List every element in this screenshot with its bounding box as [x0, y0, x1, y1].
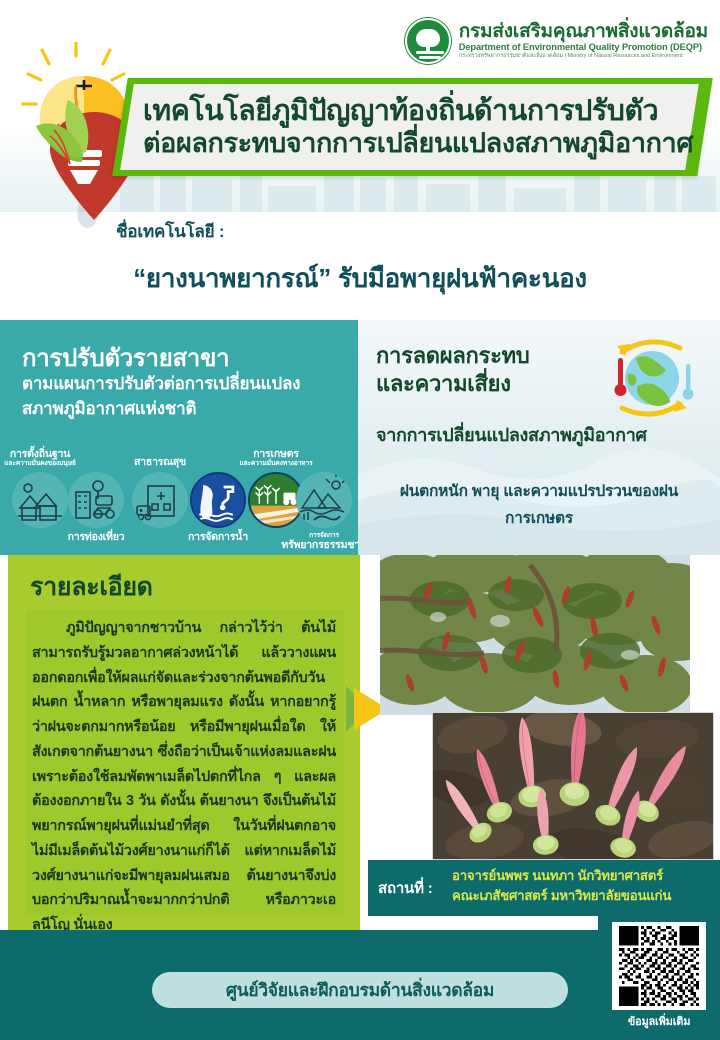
- technology-label: ชื่อเทคโนโลยี :: [116, 218, 224, 245]
- thermometer-cold-icon: [683, 364, 694, 400]
- sector-label-water-management: การจัดการน้ำ: [158, 532, 278, 543]
- location-value: อาจารย์นพพร นนทภา นักวิทยาศาสตร์ คณะเภสั…: [452, 866, 714, 907]
- sector-subtitle-line-2: สภาพภูมิอากาศแห่งชาติ: [22, 397, 352, 422]
- sector-icons-row: การตั้งถิ่นฐาน และความมั่นคงของมนุษย์: [0, 450, 358, 550]
- technology-name: “ยางนาพยากรณ์” รับมือพายุฝนฟ้าคะนอง: [0, 258, 720, 299]
- impact-title-line-1: การลดผลกระทบ: [376, 342, 626, 370]
- location-line-2: คณะเภสัชศาสตร์ มหาวิทยาลัยขอนแก่น: [452, 886, 714, 906]
- hospital-icon: [132, 472, 188, 528]
- impact-panel-title: การลดผลกระทบ และความเสี่ยง: [376, 342, 626, 397]
- impact-reduction-panel: การลดผลกระทบ และความเสี่ยง จากการเปลี่ยน…: [358, 320, 720, 555]
- mountain-icon: [296, 472, 352, 528]
- sector-label-settlement: การตั้งถิ่นฐาน และความมั่นคงของมนุษย์: [0, 449, 100, 468]
- details-body-text: ภูมิปัญญาจากชาวบ้าน กล่าวไว้ว่า ต้นไม้สา…: [26, 610, 344, 915]
- impact-panel-subtitle: จากการเปลี่ยนแปลงสภาพภูมิอากาศ: [376, 420, 706, 449]
- sector-item-tourism[interactable]: การท่องเที่ยว: [68, 472, 124, 528]
- qr-code-image: [616, 926, 702, 1006]
- water-tap-icon: [190, 472, 246, 528]
- title-line-2: ต่อผลกระทบจากการเปลี่ยนแปลงสภาพภูมิอากาศ: [143, 128, 703, 159]
- sector-label-agriculture: การเกษตร และความมั่นคงทางอาหาร: [216, 449, 336, 468]
- qr-caption: ข้อมูลเพิ่มเติม: [598, 1012, 720, 1030]
- sector-adaptation-panel: การปรับตัวรายสาขา ตามแผนการปรับตัวต่อการ…: [0, 320, 358, 555]
- poster-root: กรมส่งเสริมคุณภาพสิ่งแวดล้อม Department …: [0, 0, 720, 1040]
- deqp-emblem-icon: [405, 18, 451, 64]
- org-ministry: กระทรวงทรัพยากรธรรมชาติและสิ่งแวดล้อม I …: [459, 54, 708, 60]
- impact-title-line-2: และความเสี่ยง: [376, 370, 626, 398]
- risk-line-2: การเกษตร: [358, 505, 720, 532]
- yangna-seed-photo: [432, 712, 714, 860]
- page-title: เทคโนโลยีภูมิปัญญาท้องถิ่นด้านการปรับตัว…: [143, 84, 703, 170]
- earth-climate-icon: [592, 334, 702, 422]
- sector-item-water-management[interactable]: การจัดการน้ำ: [190, 472, 246, 528]
- sector-label-public-health: สาธารณสุข: [100, 457, 220, 468]
- impact-risk-text: ฝนตกหนัก พายุ และความแปรปรวนของฝน การเกษ…: [358, 478, 720, 532]
- footer-organization: ศูนย์วิจัยและฝึกอบรมด้านสิ่งแวดล้อม: [152, 972, 568, 1008]
- title-line-1: เทคโนโลยีภูมิปัญญาท้องถิ่นด้านการปรับตัว: [143, 95, 703, 128]
- sector-subtitle-line-1: ตามแผนการปรับตัวต่อการเปลี่ยนแปลง: [22, 372, 352, 397]
- deqp-logo-text: กรมส่งเสริมคุณภาพสิ่งแวดล้อม Department …: [459, 22, 708, 61]
- thermometer-hot-icon: [615, 358, 627, 396]
- settlement-icon: [12, 472, 68, 528]
- sector-item-public-health[interactable]: สาธารณสุข: [132, 472, 188, 528]
- sector-panel-subtitle: ตามแผนการปรับตัวต่อการเปลี่ยนแปลง สภาพภู…: [22, 372, 352, 421]
- location-line-1: อาจารย์นพพร นนทภา นักวิทยาศาสตร์: [452, 866, 714, 886]
- sector-label-tourism: การท่องเที่ยว: [36, 532, 156, 543]
- sector-item-settlement[interactable]: การตั้งถิ่นฐาน และความมั่นคงของมนุษย์: [12, 472, 68, 528]
- risk-line-1: ฝนตกหนัก พายุ และความแปรปรวนของฝน: [358, 478, 720, 505]
- tree-photo-art: [380, 555, 690, 715]
- qr-code[interactable]: [612, 922, 706, 1010]
- details-title: รายละเอียด: [30, 567, 153, 607]
- org-name-en: Department of Environmental Quality Prom…: [459, 43, 708, 53]
- seed-photo-art: [433, 713, 713, 859]
- deqp-logo: กรมส่งเสริมคุณภาพสิ่งแวดล้อม Department …: [405, 18, 708, 64]
- tourism-icon: [68, 472, 124, 528]
- sector-item-natural-resources[interactable]: การจัดการ ทรัพยากรธรรมชาติ: [296, 472, 352, 528]
- org-name-th: กรมส่งเสริมคุณภาพสิ่งแวดล้อม: [459, 22, 708, 42]
- location-label: สถานที่ :: [378, 876, 433, 900]
- details-panel: รายละเอียด ภูมิปัญญาจากชาวบ้าน กล่าวไว้ว…: [8, 555, 360, 930]
- yangna-tree-photo: [380, 555, 690, 715]
